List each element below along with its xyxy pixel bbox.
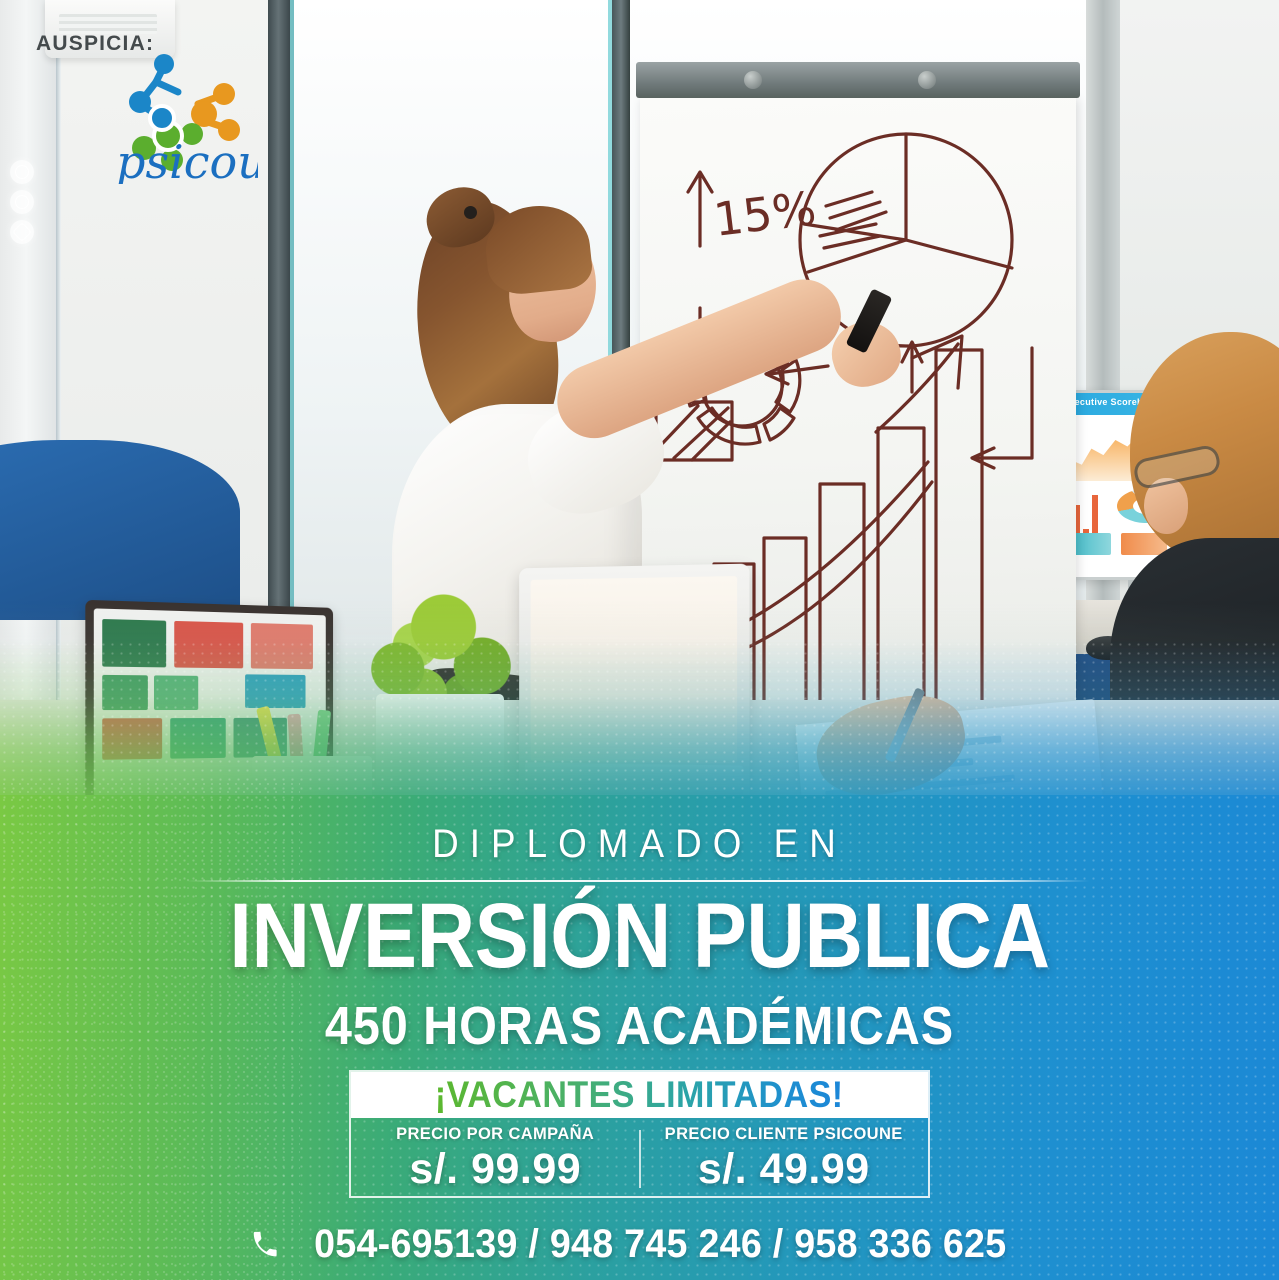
psicoune-wordmark: psicoune (116, 135, 258, 184)
price-label: PRECIO POR CAMPAÑA (396, 1124, 594, 1144)
contact-row[interactable]: 054-695139 / 948 745 246 / 958 336 625 (0, 1222, 1279, 1267)
vacancies-banner: ¡VACANTES LIMITADAS! (351, 1072, 928, 1118)
promo-poster: Executive Scoreboard (0, 0, 1279, 1280)
phone-numbers: 054-695139 / 948 745 246 / 958 336 625 (314, 1222, 1006, 1267)
pricing-box: ¡VACANTES LIMITADAS! PRECIO POR CAMPAÑA … (349, 1070, 930, 1198)
price-column-campaign: PRECIO POR CAMPAÑA s/. 99.99 (351, 1118, 640, 1200)
price-label: PRECIO CLIENTE PSICOUNE (665, 1124, 903, 1144)
kicker-text: DIPLOMADO EN (51, 822, 1228, 867)
vacancies-text: ¡VACANTES LIMITADAS! (435, 1074, 844, 1116)
price-column-client: PRECIO CLIENTE PSICOUNE s/. 49.99 (640, 1118, 929, 1200)
poster-content: AUSPICIA: (0, 0, 1279, 1280)
page-title: INVERSIÓN PUBLICA (77, 890, 1203, 982)
subtitle-hours: 450 HORAS ACADÉMICAS (64, 995, 1215, 1057)
price-amount: s/. 49.99 (698, 1145, 870, 1194)
divider-line (186, 880, 1090, 882)
price-separator (639, 1130, 641, 1188)
phone-icon (250, 1230, 280, 1260)
psicoune-logo-mark: psicoune (112, 52, 258, 184)
price-amount: s/. 99.99 (409, 1145, 581, 1194)
psicoune-logo: psicoune (112, 52, 258, 184)
